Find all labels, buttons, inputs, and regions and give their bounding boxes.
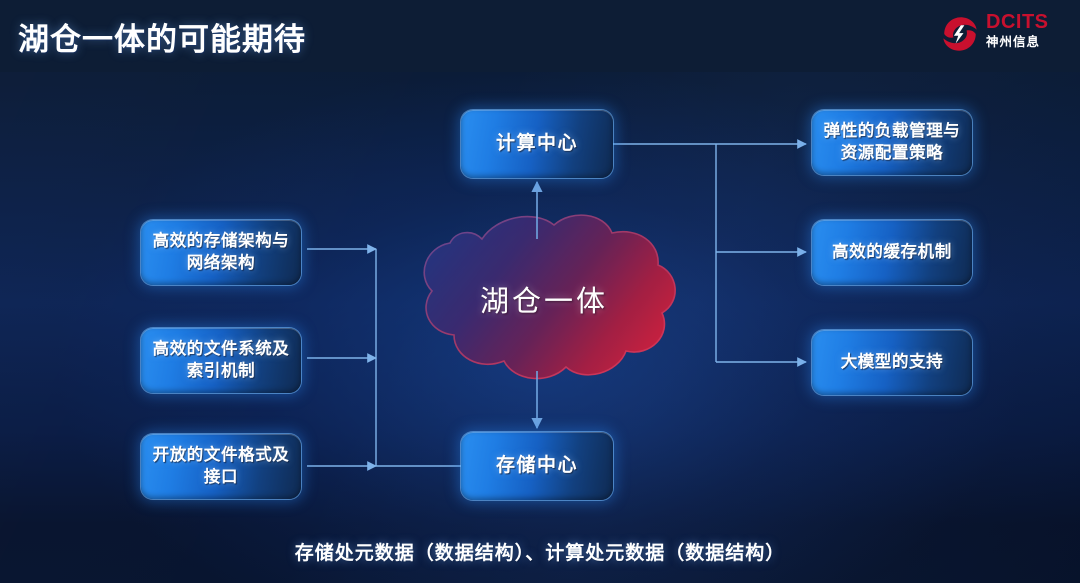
lakehouse-cloud: 湖仓一体 (404, 213, 684, 385)
node-storage-architecture-label: 高效的存储架构与网络架构 (141, 231, 301, 273)
node-large-model-support[interactable]: 大模型的支持 (812, 330, 972, 395)
node-compute-center[interactable]: 计算中心 (461, 110, 613, 178)
node-storage-center[interactable]: 存储中心 (461, 432, 613, 500)
brand-subname: 神州信息 (986, 34, 1064, 50)
node-large-model-support-label: 大模型的支持 (832, 352, 953, 373)
node-filesystem-index-label: 高效的文件系统及索引机制 (141, 339, 301, 381)
node-open-file-format-label: 开放的文件格式及接口 (141, 445, 301, 487)
cloud-label: 湖仓一体 (404, 213, 684, 385)
node-open-file-format[interactable]: 开放的文件格式及接口 (141, 434, 301, 499)
slide-canvas: 湖仓一体的可能期待 DCITS 神州信息 (0, 0, 1080, 583)
node-compute-center-label: 计算中心 (487, 132, 587, 156)
footer-caption: 存储处元数据（数据结构）、计算处元数据（数据结构） (0, 538, 1080, 565)
node-filesystem-index[interactable]: 高效的文件系统及索引机制 (141, 328, 301, 393)
node-elastic-workload[interactable]: 弹性的负载管理与资源配置策略 (812, 110, 972, 175)
node-cache-mechanism[interactable]: 高效的缓存机制 (812, 220, 972, 285)
dcits-swoosh-icon (938, 13, 982, 55)
node-elastic-workload-label: 弹性的负载管理与资源配置策略 (812, 121, 972, 163)
brand-name: DCITS (986, 11, 1064, 33)
page-title: 湖仓一体的可能期待 (18, 14, 306, 59)
slide-header: 湖仓一体的可能期待 DCITS 神州信息 (0, 0, 1080, 72)
brand-text: DCITS 神州信息 (986, 11, 1064, 50)
brand-logo: DCITS 神州信息 (938, 9, 1064, 59)
node-storage-center-label: 存储中心 (487, 454, 587, 478)
node-cache-mechanism-label: 高效的缓存机制 (823, 242, 961, 263)
node-storage-architecture[interactable]: 高效的存储架构与网络架构 (141, 220, 301, 285)
